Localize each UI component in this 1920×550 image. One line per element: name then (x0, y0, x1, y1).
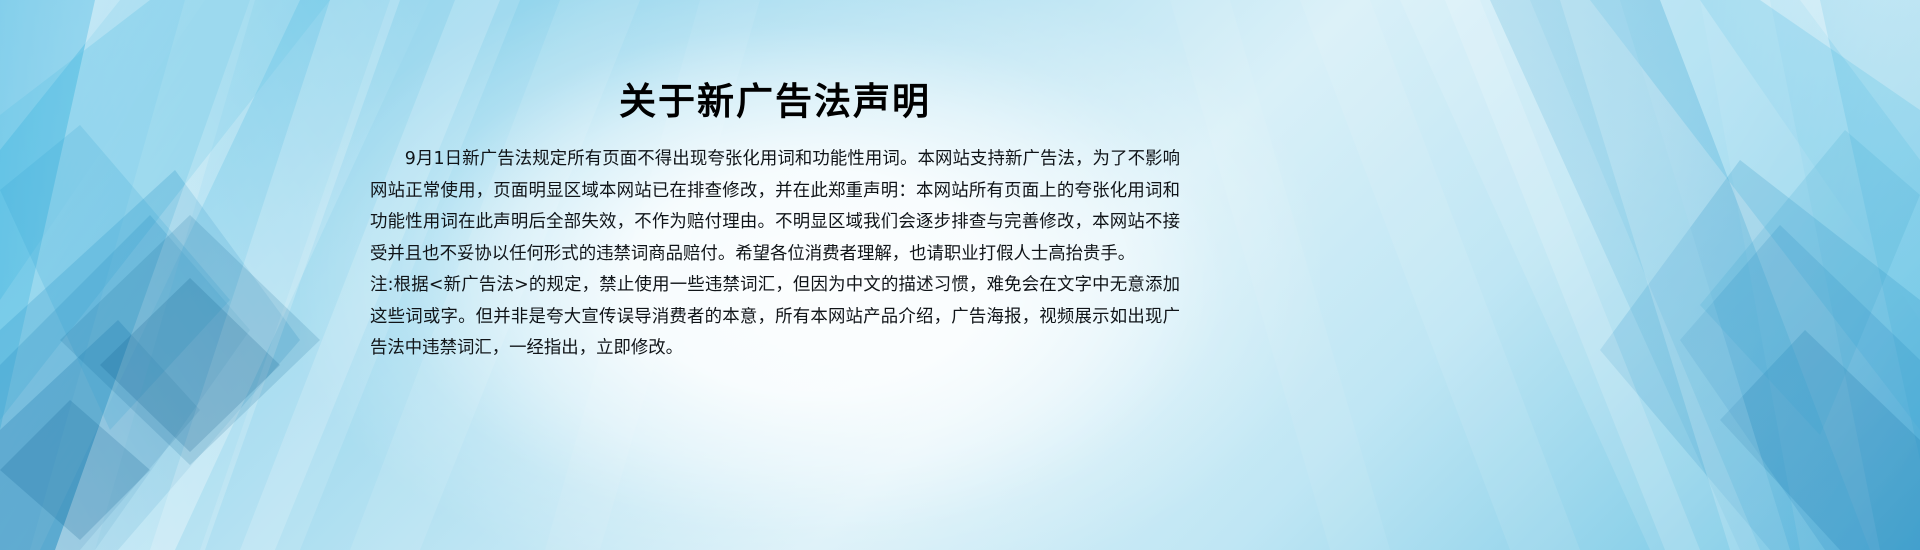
page-title: 关于新广告法声明 (370, 78, 1180, 126)
statement-content: 关于新广告法声明 9月1日新广告法规定所有页面不得出现夸张化用词和功能性用词。本… (370, 78, 1180, 365)
statement-paragraph-note: 注:根据<新广告法>的规定，禁止使用一些违禁词汇，但因为中文的描述习惯，难免会在… (370, 270, 1180, 365)
advertising-law-statement-banner: 关于新广告法声明 9月1日新广告法规定所有页面不得出现夸张化用词和功能性用词。本… (0, 0, 1920, 550)
statement-paragraph-main: 9月1日新广告法规定所有页面不得出现夸张化用词和功能性用词。本网站支持新广告法，… (370, 144, 1180, 270)
